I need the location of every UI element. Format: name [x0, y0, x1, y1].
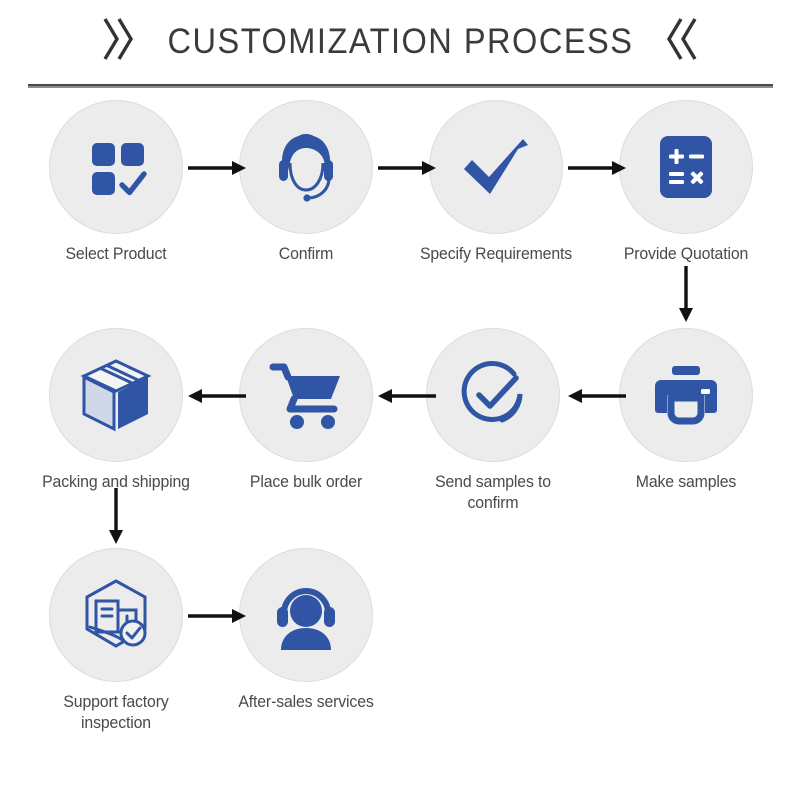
checkmark-icon — [456, 127, 536, 207]
check-circle-icon — [452, 354, 534, 436]
package-box-icon — [76, 355, 156, 435]
calculator-icon — [651, 132, 721, 202]
process-step-make-samples[interactable]: Make samples — [598, 328, 774, 493]
title-row: CUSTOMIZATION PROCESS — [0, 14, 800, 68]
shopping-cart-icon — [267, 356, 345, 434]
step-label: Packing and shipping — [32, 472, 201, 493]
process-step-provide-quotation[interactable]: Provide Quotation — [598, 100, 774, 265]
factory-inspect-icon — [76, 575, 156, 655]
step-icon-circle — [429, 100, 563, 234]
process-flow-diagram: Select Product Confirm — [0, 88, 800, 778]
step-icon-circle — [239, 548, 373, 682]
step-label: Support factory inspection — [32, 692, 201, 734]
step-icon-circle — [49, 328, 183, 462]
support-person-icon — [268, 577, 344, 653]
step-icon-circle — [239, 100, 373, 234]
printer-icon — [649, 358, 723, 432]
step-icon-circle — [49, 100, 183, 234]
step-icon-circle — [619, 100, 753, 234]
page-title: CUSTOMIZATION PROCESS — [167, 24, 633, 59]
process-step-support-factory-inspection[interactable]: Support factory inspection — [28, 548, 204, 734]
page-header: CUSTOMIZATION PROCESS — [0, 0, 800, 88]
step-icon-circle — [49, 548, 183, 682]
step-label: After-sales services — [222, 692, 391, 713]
double-chevron-left-icon — [660, 16, 702, 67]
step-icon-circle — [239, 328, 373, 462]
process-step-specify-requirements[interactable]: Specify Requirements — [408, 100, 584, 265]
process-step-packing-and-shipping[interactable]: Packing and shipping — [28, 328, 204, 493]
step-label: Confirm — [222, 244, 391, 265]
step-label: Send samples to confirm — [409, 472, 578, 514]
step-label: Provide Quotation — [602, 244, 771, 265]
connector-arrow-down-2 — [108, 488, 124, 544]
connector-arrow-down-1 — [678, 266, 694, 322]
process-step-send-samples-to-confirm[interactable]: Send samples to confirm — [405, 328, 581, 514]
step-label: Make samples — [602, 472, 771, 493]
step-icon-circle — [619, 328, 753, 462]
step-label: Specify Requirements — [412, 244, 581, 265]
process-step-place-bulk-order[interactable]: Place bulk order — [218, 328, 394, 493]
double-chevron-right-icon — [98, 16, 140, 67]
grid-check-icon — [80, 131, 152, 203]
headset-agent-icon — [267, 128, 345, 206]
process-step-confirm[interactable]: Confirm — [218, 100, 394, 265]
step-icon-circle — [426, 328, 560, 462]
step-label: Place bulk order — [222, 472, 391, 493]
step-label: Select Product — [32, 244, 201, 265]
process-step-after-sales-services[interactable]: After-sales services — [218, 548, 394, 713]
process-step-select-product[interactable]: Select Product — [28, 100, 204, 265]
